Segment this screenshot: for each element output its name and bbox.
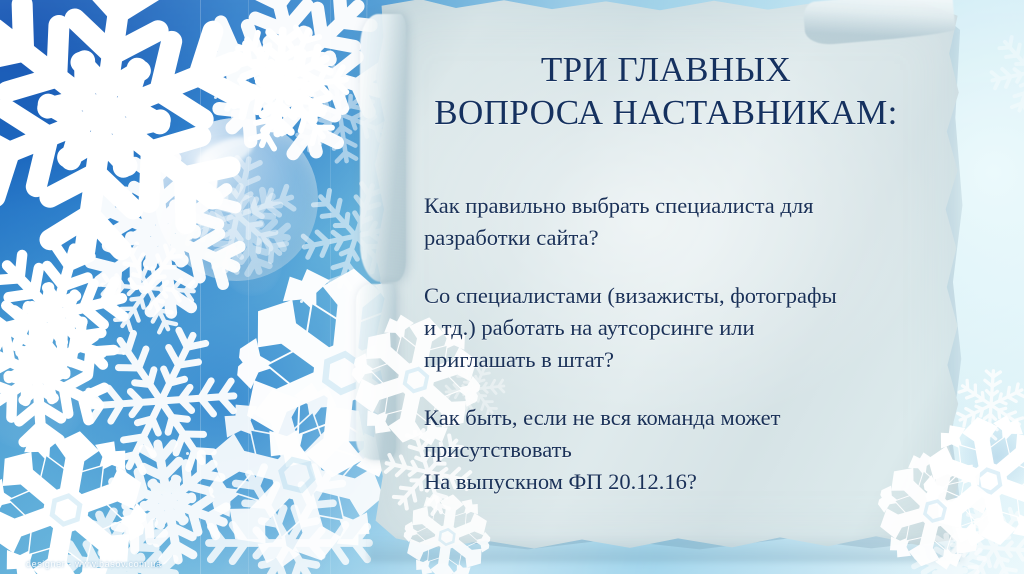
question-2-line-1: Со специалистами (визажисты, фотографы: [424, 280, 944, 312]
question-paragraph-2: Со специалистами (визажисты, фотографы и…: [424, 280, 944, 376]
question-1-line-1: Как правильно выбрать специалиста для: [424, 190, 944, 222]
question-3-line-2: присутствовать: [424, 434, 944, 466]
question-2-line-2: и тд.) работать на аутсорсинге или: [424, 312, 944, 344]
slide-title-line-2: ВОПРОСА НАСТАВНИКАМ:: [372, 91, 960, 134]
question-2-line-3: приглашать в штат?: [424, 344, 944, 376]
presentation-slide: ТРИ ГЛАВНЫХ ВОПРОСА НАСТАВНИКАМ: Как пра…: [0, 0, 1024, 574]
question-paragraph-3: Как быть, если не вся команда может прис…: [424, 402, 944, 498]
slide-body: Как правильно выбрать специалиста для ра…: [424, 190, 944, 498]
snowflake-icon: [949, 363, 1024, 446]
designer-watermark: designer - www.basov.com.ua: [26, 559, 162, 569]
slide-title-line-1: ТРИ ГЛАВНЫХ: [372, 48, 960, 91]
question-paragraph-1: Как правильно выбрать специалиста для ра…: [424, 190, 944, 254]
snowflake-icon: [906, 528, 994, 574]
slide-title: ТРИ ГЛАВНЫХ ВОПРОСА НАСТАВНИКАМ:: [372, 48, 960, 134]
question-3-line-3: На выпускном ФП 20.12.16?: [424, 466, 944, 498]
snowflake-icon: [398, 488, 495, 574]
question-1-line-2: разработки сайта?: [424, 222, 944, 254]
question-3-line-1: Как быть, если не вся команда может: [424, 402, 944, 434]
